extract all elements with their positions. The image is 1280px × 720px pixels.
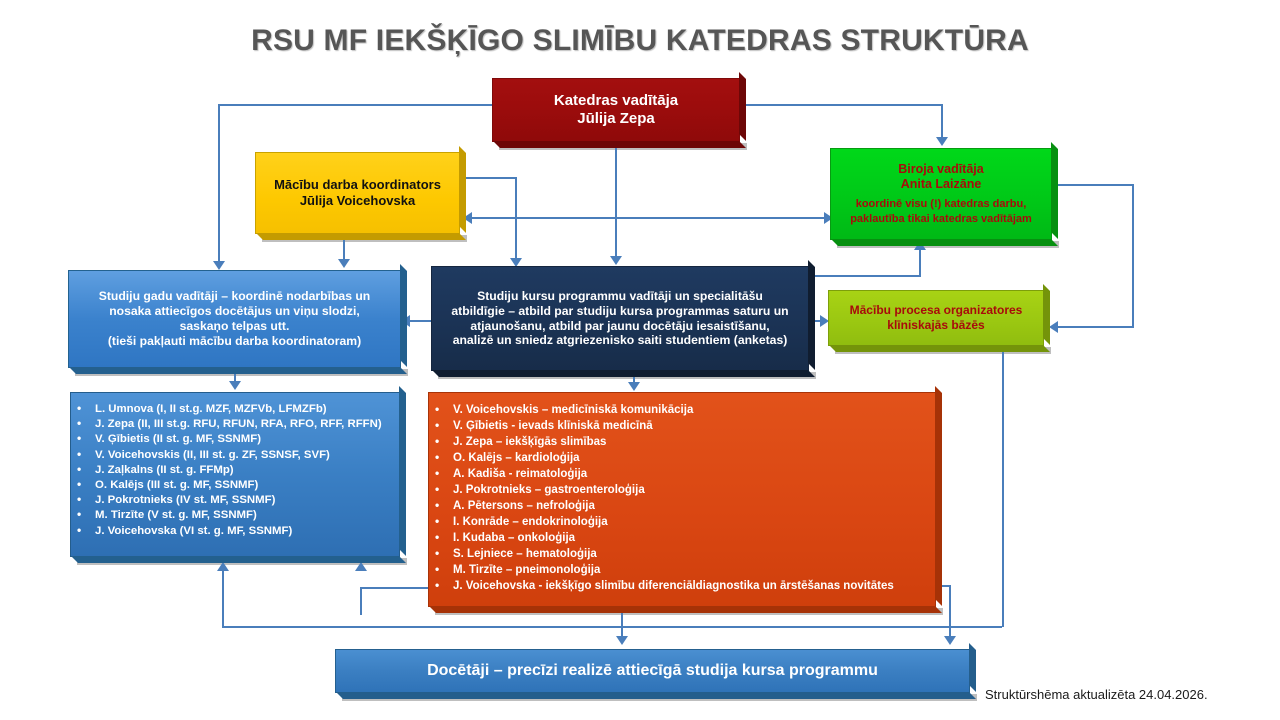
lecturers-bar[interactable]: Docētāji – precīzi realizē attiecīgā stu… [335,649,970,693]
clinical-base-organisers-box[interactable]: Mācību procesa organizatores klīniskajās… [828,290,1044,346]
list-item: I. Kudaba – onkoloģija [431,530,937,546]
list-item: J. Voicehovska - iekšķīgo slimību difere… [431,578,937,594]
arrowhead-bluelist-top [229,381,241,390]
connector-coordinator-office-h [470,217,828,219]
connector-head-to-office-v [941,104,943,138]
years-line-3: saskaņo telpas utt. [69,319,400,334]
list-item: M. Tirzīte (V st. g. MF, SSNMF) [73,508,401,523]
office-note-line-1: koordinē visu (!) katedras darbu, [831,197,1051,211]
course-programme-leaders-box[interactable]: Studiju kursu programmu vadītāji un spec… [431,266,809,371]
list-item: V. Voicehovskis – medicīniskā komunikāci… [431,402,937,418]
lecturers-label: Docētāji – precīzi realizē attiecīgā stu… [328,661,977,681]
connector-courses-to-office-v [919,250,921,277]
page-title: RSU MF IEKŠĶĪGO SLIMĪBU KATEDRAS STRUKTŪ… [0,24,1280,58]
list-item: J. Voicehovska (VI st. g. MF, SSNMF) [73,524,401,539]
connector-bottom-to-bluelist-h [222,626,1002,628]
arrowhead-years-top-2 [338,259,350,268]
connector-coordinator-bracket-h [460,177,517,179]
list-item: V. Ģībietis - ievads klīniskā medicīnā [431,418,937,434]
coordinator-name: Jūlija Voicehovska [256,193,459,209]
arrowhead-office-top [936,137,948,146]
coordinator-title: Mācību darba koordinators [256,177,459,193]
year-leaders-list-box[interactable]: L. Umnova (I, II st.g. MZF, MZFVb, LFMZF… [70,392,400,557]
office-note-line-2: paklautība tikai katedras vadītājam [831,212,1051,226]
years-line-1: Studiju gadu vadītāji – koordinē nodarbī… [69,289,400,304]
list-item: J. Zaļkalns (II st. g. FFMp) [73,463,401,478]
year-leaders-list: L. Umnova (I, II st.g. MZF, MZFVb, LFMZF… [59,393,411,539]
arrowhead-years-top [213,261,225,270]
list-item: J. Pokrotnieks – gastroenteroloģija [431,482,937,498]
connector-redlist-to-bottom-v [621,610,623,638]
list-item: J. Zepa – iekšķīgās slimības [431,434,937,450]
study-year-leaders-box[interactable]: Studiju gadu vadītāji – koordinē nodarbī… [68,270,401,368]
arrowhead-bluelist-bottom-1 [217,562,229,571]
list-item: V. Ģībietis (II st. g. MF, SSNMF) [73,432,401,447]
office-manager-box[interactable]: Biroja vadītāja Anita Laizāne koordinē v… [830,148,1052,240]
connector-office-to-clinic-h2 [1058,326,1134,328]
course-leaders-list: V. Voicehovskis – medicīniskā komunikāci… [417,393,947,594]
office-name: Anita Laizāne [831,177,1051,192]
connector-office-to-clinic-h1 [1052,184,1134,186]
list-item: V. Voicehovskis (II, III st. g. ZF, SSNS… [73,448,401,463]
connector-redlist-to-bluelist-v [360,587,362,615]
list-item: S. Lejniece – hematoloģija [431,546,937,562]
courses-line-1: Studiju kursu programmu vadītāji un spec… [432,289,808,304]
arrowhead-courses-top [610,256,622,265]
courses-line-3: atjaunošanu, atbild par jaunu docētāju i… [432,319,808,334]
list-item: I. Konrāde – endokrinoloģija [431,514,937,530]
head-title: Katedras vadītāja [493,92,739,110]
diagram-canvas: RSU MF IEKŠĶĪGO SLIMĪBU KATEDRAS STRUKTŪ… [0,0,1280,720]
connector-head-to-office-h [740,104,943,106]
study-work-coordinator-box[interactable]: Mācību darba koordinators Jūlija Voiceho… [255,152,460,234]
years-line-2: nosaka attiecīgos docētājus un viņu slod… [69,304,400,319]
connector-courses-to-office-h [809,275,921,277]
list-item: A. Kadiša - reimatoloģija [431,466,937,482]
list-item: A. Pētersons – nefroloģija [431,498,937,514]
connector-head-to-years-v [218,104,220,262]
connector-head-to-years-h [218,104,494,106]
list-item: O. Kalējs – kardioloģija [431,450,937,466]
list-item: L. Umnova (I, II st.g. MZF, MZFVb, LFMZF… [73,402,401,417]
connector-bottom-to-bluelist-v [222,570,224,628]
office-title: Biroja vadītāja [831,162,1051,177]
list-item: M. Tirzīte – pneimonoloģija [431,562,937,578]
head-name: Jūlija Zepa [493,110,739,128]
arrowhead-redlist-top [628,382,640,391]
clinic-line-1: Mācību procesa organizatores [829,303,1043,318]
connector-redlist-right-v [949,585,951,638]
connector-office-to-clinic-v [1132,184,1134,328]
list-item: O. Kalējs (III st. g. MF, SSNMF) [73,478,401,493]
clinic-line-2: klīniskajās bāzēs [829,318,1043,333]
courses-line-4: analizē un sniedz atgriezenisko saiti st… [432,333,808,348]
years-line-4: (tieši pakļauti mācību darba koordinator… [69,334,400,349]
footer-note: Struktūrshēma aktualizēta 24.04.2026. [985,687,1208,702]
connector-head-to-courses-v [615,142,617,258]
arrowhead-bluelist-bottom-2 [355,562,367,571]
connector-bottom-to-clinic-v [1002,350,1004,627]
head-of-department-box[interactable]: Katedras vadītāja Jūlija Zepa [492,78,740,142]
list-item: J. Zepa (II, III st.g. RFU, RFUN, RFA, R… [73,417,401,432]
arrowhead-bottom-top-1 [616,636,628,645]
courses-line-2: atbildīgie – atbild par studiju kursa pr… [432,304,808,319]
arrowhead-bottom-top-2 [944,636,956,645]
course-leaders-list-box[interactable]: V. Voicehovskis – medicīniskā komunikāci… [428,392,936,607]
list-item: J. Pokrotnieks (IV st. MF, SSNMF) [73,493,401,508]
